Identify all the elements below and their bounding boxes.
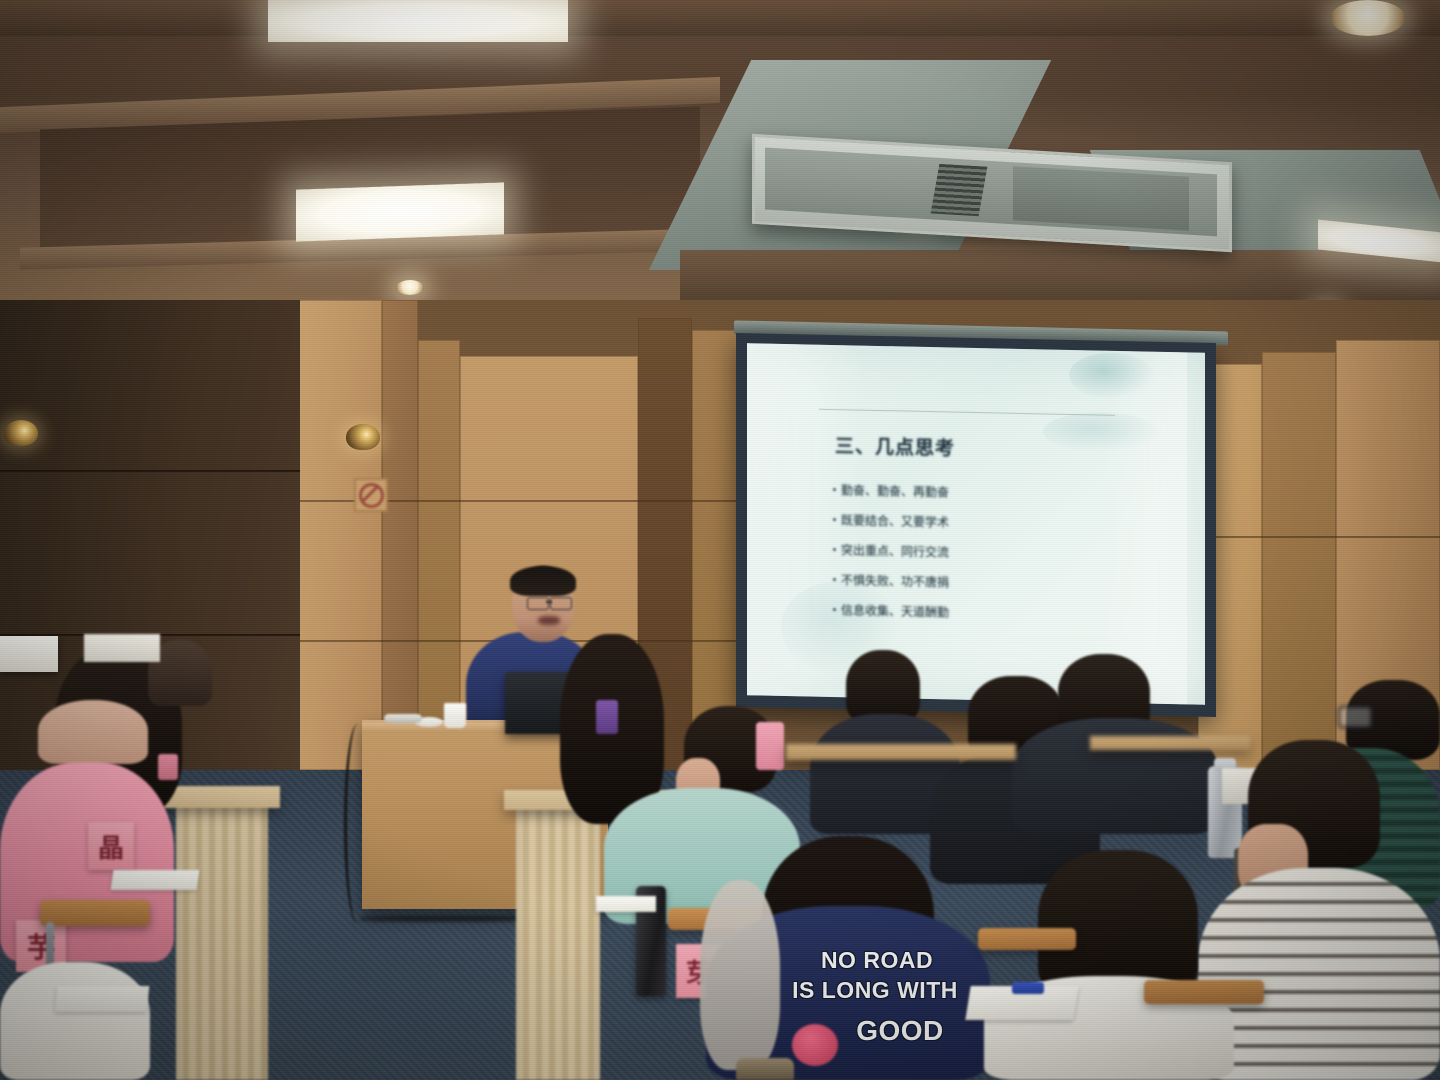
tshirt-text-line-3: GOOD (820, 1016, 980, 1046)
attendee-neck-shoulder (38, 700, 148, 764)
desk-edge (1090, 736, 1250, 750)
slide-bullet: 不惧失败、功不唐捐 (833, 571, 949, 590)
panel-light (296, 182, 504, 241)
slide-bullet: 勤奋、勤奋、再勤奋 (833, 481, 949, 500)
slide-bullet-text: 勤奋、勤奋、再勤奋 (841, 481, 949, 500)
bullet-dot (833, 488, 836, 491)
chair-back (978, 928, 1076, 950)
slide-bullet-text: 不惧失败、功不唐捐 (841, 571, 949, 590)
projection-screen: 三、几点思考 勤奋、勤奋、再勤奋 既要结合、又要学术 突出重点、同行交流 不惧失… (747, 343, 1205, 705)
presenter-mouth (538, 616, 560, 625)
wall-sconce-right (346, 424, 380, 450)
cup-foreground (736, 1058, 794, 1080)
wall-panel-column (296, 300, 382, 770)
desk-edge (786, 744, 1016, 760)
panel-light (268, 0, 568, 42)
name-card: 晶 (88, 822, 134, 870)
ac-vent-icon (931, 164, 988, 216)
downlight (396, 280, 424, 295)
ceiling-soffit-top (0, 0, 1440, 36)
cable-on-floor (360, 916, 530, 921)
eyeglasses (1338, 706, 1372, 728)
bullet-dot (833, 578, 836, 581)
bullet-dot (833, 548, 836, 551)
hair-scrunchie (792, 1024, 838, 1066)
notebook (596, 896, 656, 912)
ac-return-panel (1013, 166, 1189, 230)
whiteboard-edge (0, 636, 58, 672)
handout-paper (55, 986, 150, 1012)
table-skirt (176, 800, 268, 1080)
bullet-dot (833, 518, 836, 521)
screen-glare-right (1104, 351, 1186, 705)
white-mug (444, 703, 466, 728)
wall-seam (1198, 536, 1440, 538)
microphone-cable (344, 724, 371, 924)
attendee-head (846, 650, 920, 724)
pink-thermos (756, 722, 784, 770)
slide-bullet-text: 既要结合、又要学术 (841, 511, 949, 530)
handout-paper (111, 870, 200, 890)
slide-bullet: 既要结合、又要学术 (833, 511, 949, 530)
wall-panel-right2 (1262, 352, 1336, 770)
table-skirt (516, 806, 600, 1080)
chair-back (1144, 980, 1264, 1004)
attendee-striped-white-shirt (1198, 868, 1440, 1080)
eyeglasses-left-lens (527, 597, 549, 610)
slide-watermark (1069, 352, 1155, 400)
eyeglasses-bridge (546, 601, 552, 603)
slide-title: 三、几点思考 (835, 431, 955, 461)
slide-bullet-text: 信息收集、天道酬勤 (841, 601, 949, 620)
eyeglasses-right-lens (550, 597, 572, 610)
attendee-white-top (0, 962, 150, 1080)
bullet-dot (833, 608, 836, 611)
tshirt-text-line-1: NO ROAD (782, 948, 972, 972)
no-smoking-icon (354, 478, 388, 512)
slide-bullet: 突出重点、同行交流 (833, 541, 949, 560)
presenter-hair (510, 566, 576, 596)
projection-screen-frame: 三、几点思考 勤奋、勤奋、再勤奋 既要结合、又要学术 突出重点、同行交流 不惧失… (736, 333, 1216, 717)
attendee-grey-sleeve (700, 880, 780, 1070)
chair-back (40, 900, 150, 926)
microphone-holder (384, 714, 422, 723)
wall-panel-reveal (382, 300, 418, 770)
pink-cup (158, 754, 178, 780)
tshirt-text-line-2: IS LONG WITH (762, 978, 988, 1002)
lecture-room-photo: 三、几点思考 勤奋、勤奋、再勤奋 既要结合、又要学术 突出重点、同行交流 不惧失… (0, 0, 1440, 1080)
blue-pen (1012, 982, 1044, 994)
wall-sconce-left (4, 420, 38, 446)
downlight (1330, 0, 1406, 36)
slide-bullet: 信息收集、天道酬勤 (833, 601, 949, 620)
slide-bullet-text: 突出重点、同行交流 (841, 541, 949, 560)
wall-seam (0, 470, 300, 472)
purple-bottle (596, 700, 618, 734)
paper-sheet-raised (84, 634, 160, 662)
